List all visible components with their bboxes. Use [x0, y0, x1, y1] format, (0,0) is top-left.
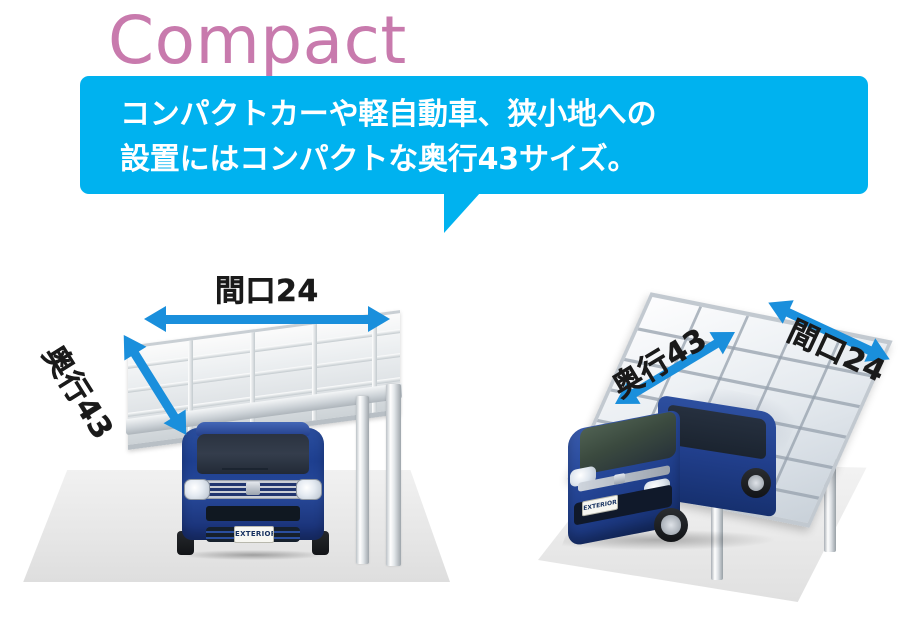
carport-post-left-outer — [386, 384, 401, 566]
carport-post-left-inner — [356, 396, 369, 564]
car-shadow — [180, 550, 326, 560]
illustration-stage: Compact コンパクトカーや軽自動車、狭小地への 設置にはコンパクトな奥行4… — [0, 0, 920, 640]
dimension-label-width-left: 間口24 — [215, 275, 319, 309]
dimension-arrow-width-left — [144, 306, 390, 332]
car-brand-logo-icon — [614, 473, 625, 485]
callout-box: コンパクトカーや軽自動車、狭小地への 設置にはコンパクトな奥行43サイズ。 — [80, 76, 868, 194]
callout-text: コンパクトカーや軽自動車、狭小地への 設置にはコンパクトな奥行43サイズ。 — [120, 92, 840, 182]
car-mirror-right — [317, 460, 332, 471]
car-rear-wheel — [741, 468, 771, 498]
roof-rafter — [128, 329, 400, 369]
car-headlight-right — [296, 479, 322, 500]
car-air-intake — [206, 506, 300, 521]
page-title: Compact — [108, 2, 407, 80]
car-front-wheel — [654, 508, 688, 542]
car-front-view: EXTERIOR — [178, 410, 328, 558]
car-license-plate: EXTERIOR — [234, 526, 274, 543]
car-perspective-view: EXTERIOR — [558, 402, 798, 577]
car-mirror-left — [174, 460, 189, 471]
right-scene: EXTERIOR — [530, 262, 920, 640]
arrow-shaft — [155, 315, 379, 324]
car-brand-logo-icon — [246, 482, 260, 495]
callout-tail-icon — [444, 193, 480, 233]
car-headlight-left — [184, 479, 210, 500]
car-wiper — [222, 468, 268, 470]
arrow-head-right — [368, 306, 390, 332]
